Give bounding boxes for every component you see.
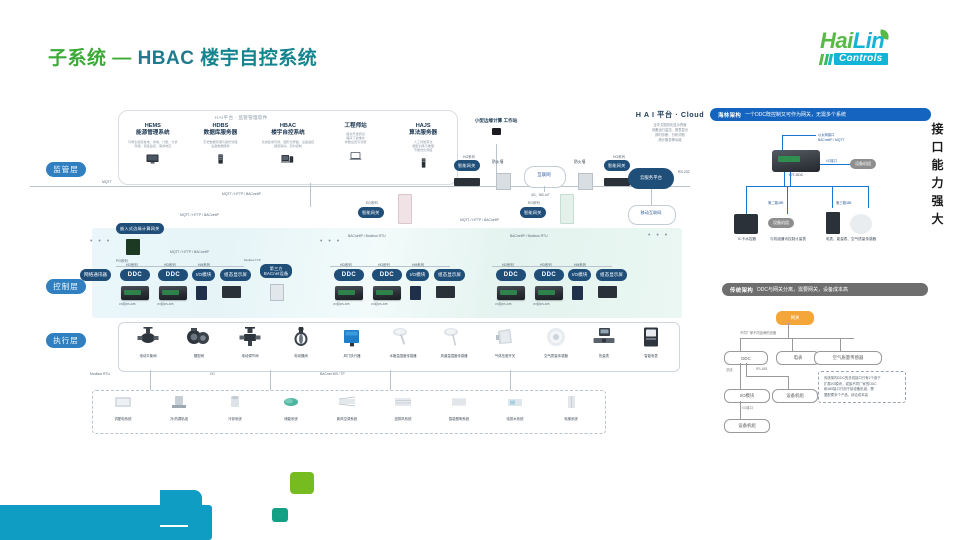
ethernet-connector-h bbox=[782, 135, 816, 136]
legacy-io-port: 总线 bbox=[726, 367, 733, 372]
logo-subline: Controls bbox=[820, 53, 938, 65]
net-controller-pill[interactable]: 网络通讯器 bbox=[80, 269, 111, 281]
exec-item-5[interactable]: 水管温湿度传感器 bbox=[376, 327, 430, 359]
io-connector bbox=[820, 164, 852, 165]
page-title-main: HBAC bbox=[138, 48, 195, 69]
pressure-switch-icon bbox=[494, 327, 516, 347]
system-item-6[interactable]: 智能照明系统 bbox=[431, 395, 487, 421]
group3-node2-series: HM系列 bbox=[574, 262, 586, 267]
heat-meter-icon bbox=[593, 327, 615, 347]
group3-ddc-1[interactable]: DDC bbox=[534, 269, 564, 281]
cloud-bus-proto-right: RS-232 bbox=[678, 170, 690, 174]
ic-card-water-device[interactable] bbox=[734, 214, 758, 234]
systems-box: 供配电系统 冷/热源机组 冷却系统 储能系统 新风空调系统 送排风系统 bbox=[92, 390, 606, 434]
firewall-icon-right bbox=[578, 173, 593, 190]
firewall-label-right: 防火墙 bbox=[574, 160, 585, 165]
system-item-5-label: 送排风系统 bbox=[375, 416, 431, 421]
sys-connector-4 bbox=[510, 370, 511, 390]
legacy-root-bus bbox=[740, 338, 854, 339]
group2-display[interactable]: 组态显示屏 bbox=[434, 269, 465, 281]
protocol-label-3: MQTT / HTTP / BACnetIP bbox=[170, 250, 209, 254]
system-item-2-label: 冷却系统 bbox=[207, 416, 263, 421]
bus-drop-1 bbox=[310, 183, 311, 207]
layer-badge-control: 控制层 bbox=[46, 279, 86, 294]
elevator-icon bbox=[562, 395, 580, 409]
mid-ellipsis: • • • bbox=[320, 238, 341, 245]
system-item-3[interactable]: 储能系统 bbox=[263, 395, 319, 421]
equipment-node-mid-desc: 与机组通讯控制计量表 bbox=[754, 237, 822, 242]
embedded-gateway-pill[interactable]: 嵌入式边缘计算网关 bbox=[116, 223, 164, 234]
eg-gateway-1[interactable]: 智能网关 bbox=[358, 207, 384, 218]
hajs-desc: 人工智能算法 模型训练与推理 节能优化调度 bbox=[389, 140, 457, 153]
group1-ddc-1[interactable]: DDC bbox=[158, 269, 188, 281]
group2-io-module[interactable]: I/O模块 bbox=[406, 269, 429, 281]
equipment-node-mid[interactable]: 设备机组 bbox=[768, 218, 794, 228]
deco-block-4 bbox=[290, 472, 314, 494]
server-icon bbox=[214, 151, 227, 161]
mobile-internet-label: 移动互联网 bbox=[628, 210, 674, 216]
eg-series-label-1: EG系列 bbox=[366, 200, 378, 205]
group1-io-device bbox=[196, 286, 207, 300]
hdbs-name: 数据库服务器 bbox=[187, 130, 255, 138]
bus-left-label: 第二路485 bbox=[768, 200, 783, 205]
exec-item-6[interactable]: 风道温湿度传感器 bbox=[427, 327, 481, 359]
branch-mid bbox=[787, 186, 788, 214]
group3-display-device bbox=[598, 286, 617, 298]
group3-io-device bbox=[572, 286, 583, 300]
exec-item-10[interactable]: 智能电表 bbox=[624, 327, 678, 359]
gateway-pill-right[interactable]: 智能网关 bbox=[604, 160, 630, 171]
supervision-item-hbac[interactable]: HBAC 楼宇自控系统 系统集成可视、图形化界面、设备监控 报警联动、定时控制 bbox=[254, 123, 322, 165]
hajs-code: HAJS bbox=[389, 123, 457, 130]
firewall-icon-left bbox=[496, 173, 511, 190]
supervision-card: HAI平台 · 监管管理软件 HEMS 能源管理系统 可再生能源发电、用电、计量… bbox=[118, 110, 458, 185]
system-item-0-label: 供配电系统 bbox=[95, 416, 151, 421]
group2-display-device bbox=[436, 286, 455, 298]
legacy-io-module[interactable]: I/O模块 bbox=[724, 389, 770, 403]
group1-node2-series: HM系列 bbox=[198, 262, 210, 267]
system-item-3-label: 储能系统 bbox=[263, 416, 319, 421]
group3-display[interactable]: 组态显示屏 bbox=[596, 269, 627, 281]
hdbs-code: HDBS bbox=[187, 123, 255, 130]
exec-item-2[interactable]: 电动调节阀 bbox=[223, 327, 277, 359]
group2-io-device bbox=[410, 286, 421, 300]
group1-ddc-0[interactable]: DDC bbox=[120, 269, 150, 281]
legacy-equip-riser bbox=[788, 376, 789, 389]
group3-ddc-0-device bbox=[497, 286, 525, 300]
deco-block-3 bbox=[272, 508, 288, 522]
logo-sub-label: Controls bbox=[834, 53, 888, 65]
exec-item-5-label: 水管温湿度传感器 bbox=[376, 354, 430, 359]
exec-item-7[interactable]: 气体压差开关 bbox=[478, 327, 532, 359]
cooling-icon bbox=[226, 395, 244, 409]
hailin-arch-header: 海林架构 一个DDC既控制又可作为网关，无需多个系统 bbox=[710, 108, 931, 121]
air-quality-icon bbox=[545, 327, 567, 347]
exec-item-3[interactable]: 电动蝶阀 bbox=[274, 327, 328, 359]
right-leaf-label: 电表、能量表、空气质量传感器 bbox=[814, 237, 888, 242]
legacy-child-aq-sensor[interactable]: 空气质量传感器 bbox=[814, 351, 882, 365]
engineer-desc: 组态开发调试 程序下载维护 参数设置与诊断 bbox=[322, 132, 390, 145]
group1-ddc-1-device bbox=[159, 286, 187, 300]
bus-right-label: 第三路485 bbox=[836, 200, 851, 205]
protocol-label-4: MQTT / HTTP / BACnetIP bbox=[460, 218, 499, 222]
system-item-8[interactable]: 电梯系统 bbox=[543, 395, 599, 421]
gateway-series-right: HG系列 bbox=[613, 154, 625, 159]
exec-item-1[interactable]: 蝶型阀 bbox=[172, 327, 226, 359]
slide: 子系统 — HBAC 楼宇自控系统 HaiLin Controls 监管层 控制… bbox=[0, 0, 960, 540]
bacnet-modbus-label-2: BACnetIP / Modbus RTU bbox=[510, 234, 548, 238]
exec-item-10-label: 智能电表 bbox=[624, 354, 678, 359]
exec-item-3-label: 电动蝶阀 bbox=[274, 354, 328, 359]
internet-drop bbox=[544, 186, 545, 192]
eg-series-label-2: EG系列 bbox=[528, 200, 540, 205]
ethernet-connector-v bbox=[782, 135, 783, 150]
group1-node0-series: HD系列 bbox=[126, 262, 138, 267]
exec-item-8[interactable]: 空气质量传感器 bbox=[529, 327, 583, 359]
cloud-service-label: 云服务平台 bbox=[628, 175, 674, 181]
group2-node2-series: HM系列 bbox=[412, 262, 424, 267]
group1-rs485-label-2: I/O和RS-485 bbox=[157, 302, 174, 306]
system-item-8-label: 电梯系统 bbox=[543, 416, 599, 421]
branch-right-1 bbox=[832, 186, 833, 208]
group2-ddc-0[interactable]: DDC bbox=[334, 269, 364, 281]
group3-io-module[interactable]: I/O模块 bbox=[568, 269, 591, 281]
legacy-note: 传统架构DDC的总线接口只有2个用于 扩展I/O模块，或接不同厂家的DDC 和4… bbox=[818, 371, 906, 403]
hbac-name: 楼宇自控系统 bbox=[254, 130, 322, 138]
sys-connector-2 bbox=[270, 370, 271, 390]
hbac-code: HBAC bbox=[254, 123, 322, 130]
internet-label: 互联网 bbox=[524, 172, 564, 178]
pipe-sensor-icon bbox=[392, 327, 414, 347]
legacy-root-gateway[interactable]: 网关 bbox=[776, 311, 814, 325]
group2-node0-series: HD系列 bbox=[340, 262, 352, 267]
group1-display-device bbox=[222, 286, 241, 298]
legacy-equipment-1[interactable]: 设备机组 bbox=[772, 389, 818, 403]
supervision-item-hajs[interactable]: HAJS 算法服务器 人工智能算法 模型训练与推理 节能优化调度 bbox=[389, 123, 457, 165]
third-party-bacnet-pill[interactable]: 第三方 BACnet设备 bbox=[260, 264, 292, 278]
exec-item-0[interactable]: 电动平衡阀 bbox=[121, 327, 175, 359]
ethernet-port-label: 以太网接口 bbox=[818, 132, 834, 137]
group3-ddc-1-device bbox=[535, 286, 563, 300]
legacy-branch-3 bbox=[840, 338, 841, 351]
ethernet-proto-label: BACnetIP / MQTT bbox=[818, 138, 845, 142]
execution-layer-box: 电动平衡阀 蝶型阀 电动调节阀 电动蝶阀 风门执行器 水管温湿度传感器 bbox=[118, 322, 680, 372]
iot-proto-label: 4G、NB-IoT bbox=[531, 192, 550, 197]
supervision-item-hdbs[interactable]: HDBS 数据库服务器 历史数据存储与备份管理 设备数据服务 bbox=[187, 123, 255, 165]
sys-connector-3 bbox=[390, 370, 391, 390]
laptop-icon bbox=[349, 148, 362, 158]
edge-workstation[interactable]: 小型边缘计算 工作站 bbox=[467, 118, 525, 135]
storage-icon bbox=[282, 395, 300, 409]
legacy-root-riser bbox=[788, 323, 789, 338]
supervision-items: HEMS 能源管理系统 可再生能源发电、用电、计量、分析 存储、调度监控、需求响… bbox=[119, 123, 457, 165]
legacy-arch-headline: DDC与网关分离，需要网关，设备成本高 bbox=[757, 286, 848, 293]
fresh-air-icon bbox=[338, 395, 356, 409]
gateway-pill-left[interactable]: 智能网关 bbox=[454, 160, 480, 171]
monitor-icon bbox=[146, 151, 159, 161]
system-item-4-label: 新风空调系统 bbox=[319, 416, 375, 421]
power-supply-icon bbox=[114, 395, 132, 409]
group3-rs485-label-2: I/O和RS-485 bbox=[533, 302, 550, 306]
platform-tag: HAI平台 · 监管管理软件 bbox=[215, 115, 268, 121]
group3-node1-series: HD系列 bbox=[540, 262, 552, 267]
group3-rs485-label: I/O和RS-485 bbox=[495, 302, 512, 306]
ventilation-icon bbox=[394, 395, 412, 409]
branch-left bbox=[746, 186, 747, 214]
damper-actuator-icon bbox=[341, 327, 363, 347]
page-title-prefix: 子系统 bbox=[48, 48, 107, 69]
layer-badge-supervision: 监管层 bbox=[46, 162, 86, 177]
eg-gateway-2-device bbox=[560, 194, 574, 224]
supervision-item-engineer[interactable]: 工程师站 组态开发调试 程序下载维护 参数设置与诊断 bbox=[322, 123, 390, 165]
vertical-callout: 接口能力强大 bbox=[930, 120, 946, 228]
system-item-1-label: 冷/热源机组 bbox=[151, 416, 207, 421]
system-item-7-label: 给排水系统 bbox=[487, 416, 543, 421]
exec-item-0-label: 电动平衡阀 bbox=[121, 354, 175, 359]
exec-item-1-label: 蝶型阀 bbox=[172, 354, 226, 359]
modbus-tcp-label: Modbus TCP bbox=[244, 258, 261, 262]
right-top-panel: 海林架构 一个DDC既控制又可作为网关，无需多个系统 以太网接口 BACnetI… bbox=[710, 108, 925, 268]
system-item-2[interactable]: 冷却系统 bbox=[207, 395, 263, 421]
page-title: 子系统 — HBAC 楼宇自控系统 bbox=[48, 43, 317, 70]
legacy-leaf-riser bbox=[740, 401, 741, 419]
firewall-label-left: 防火墙 bbox=[492, 160, 503, 165]
meter-device-icon[interactable] bbox=[826, 212, 840, 234]
group1-io-module[interactable]: I/O模块 bbox=[192, 269, 215, 281]
control-valve-icon bbox=[239, 327, 261, 347]
hems-desc: 可再生能源发电、用电、计量、分析 存储、调度监控、需求响应 bbox=[119, 140, 187, 148]
system-item-1[interactable]: 冷/热源机组 bbox=[151, 395, 207, 421]
protocol-label-2: MQTT / HTTP / BACnetIP bbox=[180, 213, 219, 217]
gateway-device-left bbox=[454, 178, 480, 186]
legacy-root-note: 不同厂家不同品牌的设备 bbox=[740, 330, 776, 335]
valve-icon bbox=[137, 327, 159, 347]
legacy-branch-2 bbox=[792, 338, 793, 351]
legacy-leaf-port: I/O接口 bbox=[742, 405, 753, 410]
right-top-bus-riser bbox=[784, 172, 785, 186]
bus-label-bacnet-ws: BACnet MS / TP bbox=[320, 372, 345, 376]
group2-ddc-0-device bbox=[335, 286, 363, 300]
chiller-icon bbox=[170, 395, 188, 409]
system-item-4[interactable]: 新风空调系统 bbox=[319, 395, 375, 421]
iot-ddc-led bbox=[778, 156, 800, 162]
group3-ddc-0[interactable]: DDC bbox=[496, 269, 526, 281]
lighting-icon bbox=[450, 395, 468, 409]
exec-item-8-label: 空气质量传感器 bbox=[529, 354, 583, 359]
group1-node1-series: HD系列 bbox=[164, 262, 176, 267]
logo-wordmark: HaiLin bbox=[820, 30, 938, 52]
left-ellipsis: • • • bbox=[90, 238, 111, 245]
hems-code: HEMS bbox=[119, 123, 187, 130]
system-item-6-label: 智能照明系统 bbox=[431, 416, 487, 421]
brand-logo: HaiLin Controls bbox=[820, 30, 938, 72]
group2-rs485-label: I/O和RS-485 bbox=[333, 302, 350, 306]
group2-ddc-1[interactable]: DDC bbox=[372, 269, 402, 281]
hbac-desc: 系统集成可视、图形化界面、设备监控 报警联动、定时控制 bbox=[254, 140, 322, 148]
exec-item-9[interactable]: 热量表 bbox=[577, 327, 631, 359]
group1-ddc-0-device bbox=[121, 286, 149, 300]
logo-part1: Hai bbox=[820, 28, 853, 53]
eg-gateway-2[interactable]: 智能网关 bbox=[520, 207, 546, 218]
page-title-dash: — bbox=[112, 48, 132, 69]
legacy-arch-badge: 传统架构 bbox=[730, 286, 753, 294]
third-party-device-icon bbox=[270, 284, 284, 301]
exec-item-4[interactable]: 风门执行器 bbox=[325, 327, 379, 359]
group3-node0-series: HD系列 bbox=[502, 262, 514, 267]
legacy-ddc-bus bbox=[746, 376, 788, 377]
io-port-label: I/O接口 bbox=[826, 158, 837, 163]
equipment-node-top[interactable]: 设备机组 bbox=[850, 159, 876, 169]
legacy-leaf-equipment[interactable]: 设备机组 bbox=[724, 419, 770, 433]
aq-sensor-device-icon[interactable] bbox=[850, 214, 872, 234]
system-item-0[interactable]: 供配电系统 bbox=[95, 395, 151, 421]
compute-server-icon bbox=[417, 155, 430, 165]
exec-item-4-label: 风门执行器 bbox=[325, 354, 379, 359]
right-bottom-panel: 传统架构 DDC与网关分离，需要网关，设备成本高 网关 不同厂家不同品牌的设备 … bbox=[710, 283, 925, 443]
bus-label-modbus-rtu: Modbus RTU bbox=[90, 372, 110, 376]
group1-display[interactable]: 组态显示屏 bbox=[220, 269, 251, 281]
legacy-arch-header: 传统架构 DDC与网关分离，需要网关，设备成本高 bbox=[722, 283, 928, 296]
legacy-rs485-port: RS-485 bbox=[756, 367, 767, 371]
gateway-device-right bbox=[604, 178, 630, 186]
right-ellipsis: • • • bbox=[648, 232, 669, 239]
water-supply-icon bbox=[506, 395, 524, 409]
eg-gateway-1-device bbox=[398, 194, 412, 224]
embedded-gateway-board-icon bbox=[126, 239, 140, 255]
system-item-5[interactable]: 送排风系统 bbox=[375, 395, 431, 421]
right-top-bus bbox=[746, 186, 868, 187]
hems-name: 能源管理系统 bbox=[119, 130, 187, 138]
exec-item-7-label: 气体压差开关 bbox=[478, 354, 532, 359]
exec-item-2-label: 电动调节阀 bbox=[223, 354, 277, 359]
exec-item-9-label: 热量表 bbox=[577, 354, 631, 359]
page-title-suffix: 楼宇自控系统 bbox=[200, 48, 317, 69]
edge-workstation-label: 小型边缘计算 工作站 bbox=[467, 118, 525, 124]
bus-label-io: I/O bbox=[210, 372, 215, 376]
butterfly-valve-icon bbox=[186, 327, 212, 347]
edge-device-icon bbox=[492, 128, 501, 135]
exec-item-6-label: 风道温湿度传感器 bbox=[427, 354, 481, 359]
legacy-branch-1 bbox=[740, 338, 741, 351]
legacy-ddc-riser2 bbox=[746, 363, 747, 376]
duct-sensor-icon bbox=[443, 327, 465, 347]
legacy-ddc-riser bbox=[740, 363, 741, 389]
bus-proto-mqtt: MQTT bbox=[102, 180, 112, 184]
hailin-arch-badge: 海林架构 bbox=[718, 111, 741, 119]
right-top-bus-riser2 bbox=[790, 172, 791, 186]
branch-right-2 bbox=[868, 186, 869, 208]
group2-node1-series: HD系列 bbox=[378, 262, 390, 267]
deco-bar-bottom bbox=[0, 527, 200, 540]
group1-rs485-label: I/O和RS-485 bbox=[119, 302, 136, 306]
hdbs-desc: 历史数据存储与备份管理 设备数据服务 bbox=[187, 140, 255, 148]
protocol-label-1: MQTT / HTTP / BACnetIP bbox=[222, 192, 261, 196]
group2-ddc-1-device bbox=[373, 286, 401, 300]
gateway-series-left: HG系列 bbox=[463, 154, 475, 159]
group2-rs485-label-2: I/O和RS-485 bbox=[371, 302, 388, 306]
supervision-item-hems[interactable]: HEMS 能源管理系统 可再生能源发电、用电、计量、分析 存储、调度监控、需求响… bbox=[119, 123, 187, 165]
bars-icon bbox=[820, 54, 832, 65]
bacnet-modbus-label-1: BACnetIP / Modbus RTU bbox=[348, 234, 386, 238]
layer-badge-execution: 执行层 bbox=[46, 333, 86, 348]
hailin-arch-headline: 一个DDC既控制又可作为网关，无需多个系统 bbox=[745, 111, 846, 118]
engineer-code: 工程师站 bbox=[322, 123, 390, 130]
iot-ddc-label: IOT-DDC bbox=[772, 173, 820, 177]
sys-connector-1 bbox=[150, 370, 151, 390]
electric-valve-icon bbox=[290, 327, 312, 347]
architecture-diagram: 监管层 控制层 执行层 HAI平台 · 监管管理软件 HEMS 能源管理系统 可… bbox=[30, 100, 690, 445]
smart-meter-icon bbox=[640, 327, 662, 347]
hajs-name: 算法服务器 bbox=[389, 130, 457, 138]
system-item-7[interactable]: 给排水系统 bbox=[487, 395, 543, 421]
workstation-icon bbox=[281, 151, 294, 161]
